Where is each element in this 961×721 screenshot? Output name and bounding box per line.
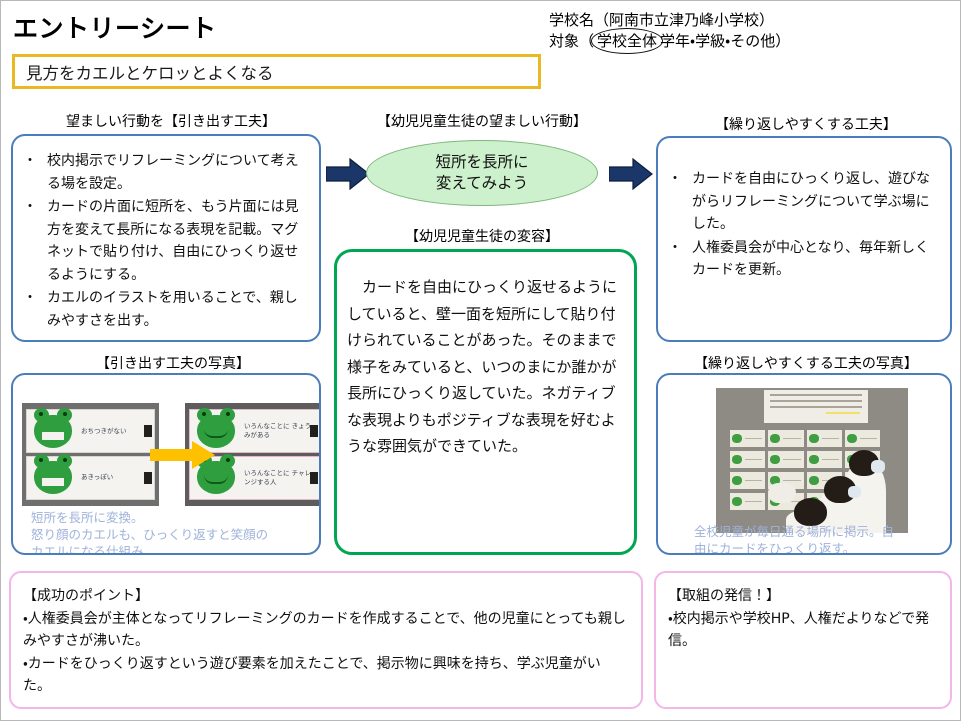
theme-title-box: 見方をカエルとケロッとよくなる	[12, 54, 541, 89]
target-selected-circled: 学校全体	[594, 31, 660, 52]
card-text: おちつきがない	[77, 427, 149, 436]
caption-line: 怒り顔のカエルも、ひっくり返すと笑顔の	[31, 526, 307, 543]
theme-title-text: 見方をカエルとケロッとよくなる	[15, 60, 274, 84]
narrative-text: カードを自由にひっくり返せるようにしていると、壁一面を短所にして貼り付けられてい…	[337, 274, 634, 460]
page-title: エントリーシート	[13, 9, 217, 45]
list-item: 人権委員会が中心となり、毎年新しくカードを更新。	[666, 237, 940, 282]
left-strategy-box: 校内掲示でリフレーミングについて考える場を設定。 カードの片面に短所を、もう片面…	[11, 134, 321, 342]
right-bullet-list: カードを自由にひっくり返し、遊びながらリフレーミングについて学ぶ場にした。 人権…	[666, 168, 940, 282]
caption-line: カエルになる仕組み。	[31, 543, 307, 555]
school-name-value: 阿南市立津乃峰小学校	[609, 11, 759, 29]
wall-card	[730, 451, 765, 468]
right-photo-caption: 全校児童が毎日通る場所に掲示。自 由にカードをひっくり返す。	[686, 523, 948, 555]
left-photo-header: 【引き出す工夫の写真】	[23, 353, 323, 373]
list-item: カードの片面に短所を、もう片面には見方を変えて長所になる表現を記載。マグネットで…	[21, 196, 309, 286]
target-label: 対象（	[549, 32, 594, 50]
right-column-header: 【繰り返しやすくする工夫】	[661, 114, 951, 134]
magnet-icon	[310, 425, 318, 437]
target-options: 学年・学級・その他）	[660, 32, 790, 50]
success-points-box: 【成功のポイント】 ・人権委員会が主体となってリフレーミングのカードを作成するこ…	[9, 571, 643, 709]
face-mask-icon	[848, 486, 861, 498]
target-line: 対象（学校全体学年・学級・その他）	[549, 31, 790, 52]
left-column-header: 望ましい行動を【引き出す工夫】	[41, 111, 301, 131]
outreach-line-1: ・校内掲示や学校HP、人権だよりなどで発信。	[668, 608, 938, 653]
card-text: いろんなことに チャレンジする人	[240, 469, 315, 487]
outreach-heading: 【取組の発信！】	[668, 585, 938, 608]
success-line-1: ・人権委員会が主体となってリフレーミングのカードを作成することで、他の児童にとっ…	[23, 608, 627, 653]
caption-line: 短所を長所に変換。	[31, 509, 307, 526]
magnet-icon	[144, 425, 152, 437]
wall-card	[845, 430, 880, 447]
school-name-close: ）	[759, 11, 774, 29]
school-name-label: 学校名（	[549, 11, 609, 29]
frog-angry-icon	[34, 415, 72, 448]
school-name-line: 学校名（阿南市立津乃峰小学校）	[549, 10, 790, 31]
goal-ellipse: 短所を長所に 変えてみよう	[366, 140, 598, 206]
card-text: あきっぽい	[77, 473, 149, 482]
cards-before: おちつきがない あきっぽい	[22, 403, 159, 506]
list-item: カードを自由にひっくり返し、遊びながらリフレーミングについて学ぶ場にした。	[666, 168, 940, 236]
right-strategy-box: カードを自由にひっくり返し、遊びながらリフレーミングについて学ぶ場にした。 人権…	[656, 136, 952, 342]
frog-angry-icon	[34, 461, 72, 494]
right-photo-header: 【繰り返しやすくする工夫の写真】	[656, 353, 956, 373]
magnet-icon	[144, 472, 152, 484]
wall-card	[730, 472, 765, 489]
card-before-2: あきっぽい	[26, 456, 155, 500]
wall-card	[768, 430, 803, 447]
face-mask-icon	[871, 460, 885, 473]
success-heading: 【成功のポイント】	[23, 585, 627, 608]
wall-card	[807, 451, 842, 468]
entry-sheet-page: エントリーシート 見方をカエルとケロッとよくなる 学校名（阿南市立津乃峰小学校）…	[0, 0, 961, 721]
center-sub-header: 【幼児児童生徒の変容】	[357, 226, 607, 246]
left-bullet-list: 校内掲示でリフレーミングについて考える場を設定。 カードの片面に短所を、もう片面…	[21, 150, 309, 332]
left-photo-caption: 短所を長所に変換。 怒り顔のカエルも、ひっくり返すと笑顔の カエルになる仕組み。	[23, 509, 315, 555]
left-photo-panel: おちつきがない あきっぽい	[11, 373, 321, 555]
photo-wall-display	[716, 388, 908, 533]
arrow-right-icon-1	[326, 158, 370, 190]
success-line-2: ・カードをひっくり返すという遊び要素を加えたことで、掲示物に興味を持ち、学ぶ児童…	[23, 653, 627, 698]
card-before-1: おちつきがない	[26, 409, 155, 453]
student-head	[794, 498, 827, 526]
wall-card	[768, 451, 803, 468]
wall-card	[730, 493, 765, 510]
wall-card	[730, 430, 765, 447]
wall-card	[807, 430, 842, 447]
goal-line-1: 短所を長所に	[435, 152, 528, 173]
photo-frog-cards: おちつきがない あきっぽい	[22, 403, 321, 506]
right-photo-panel: 全校児童が毎日通る場所に掲示。自 由にカードをひっくり返す。	[656, 373, 952, 555]
arrow-transform-icon	[150, 440, 216, 470]
center-column-header: 【幼児児童生徒の望ましい行動】	[357, 111, 607, 131]
caption-line: 全校児童が毎日通る場所に掲示。自	[694, 523, 940, 540]
outreach-text: 【取組の発信！】 ・校内掲示や学校HP、人権だよりなどで発信。	[668, 585, 938, 653]
success-points-text: 【成功のポイント】 ・人権委員会が主体となってリフレーミングのカードを作成するこ…	[23, 585, 627, 698]
list-item: カエルのイラストを用いることで、親しみやすさを出す。	[21, 287, 309, 332]
list-item: 校内掲示でリフレーミングについて考える場を設定。	[21, 150, 309, 195]
arrow-right-icon-2	[609, 158, 653, 190]
student-arm	[768, 483, 796, 503]
school-info: 学校名（阿南市立津乃峰小学校） 対象（学校全体学年・学級・その他）	[549, 10, 790, 52]
card-text: いろんなことに きょうみがある	[240, 422, 315, 440]
magnet-icon	[310, 472, 318, 484]
goal-line-2: 変えてみよう	[436, 173, 528, 194]
outreach-box: 【取組の発信！】 ・校内掲示や学校HP、人権だよりなどで発信。	[654, 571, 952, 709]
wall-poster	[764, 390, 868, 423]
caption-line: 由にカードをひっくり返す。	[694, 540, 940, 555]
center-narrative-box: カードを自由にひっくり返せるようにしていると、壁一面を短所にして貼り付けられてい…	[334, 249, 637, 555]
